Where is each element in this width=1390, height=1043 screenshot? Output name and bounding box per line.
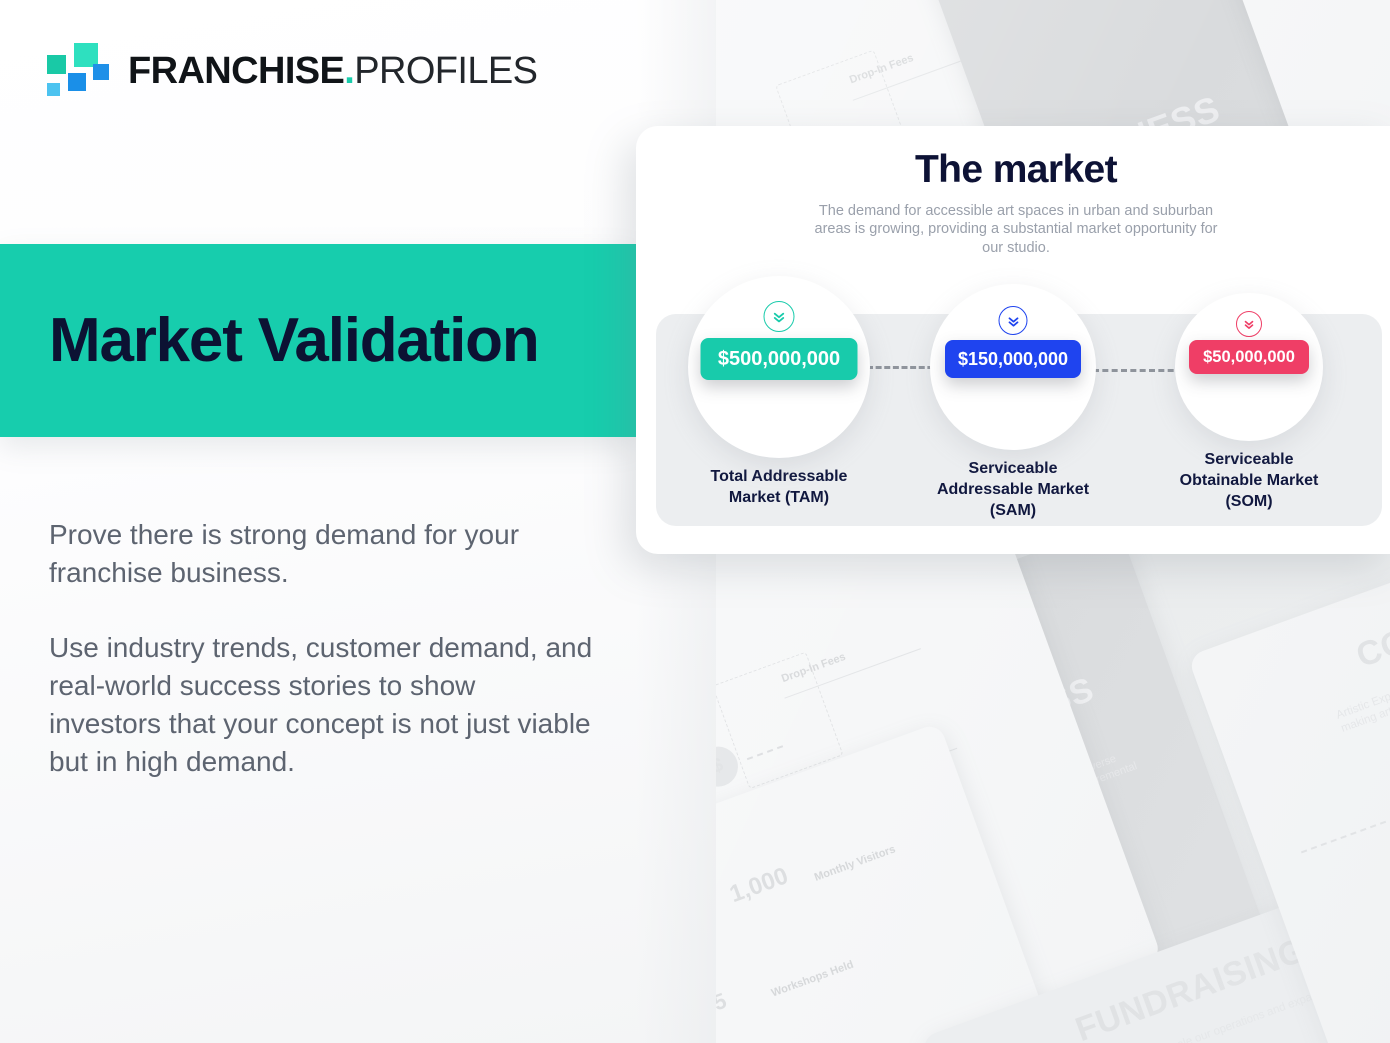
market-node-som[interactable]: $50,000,000 Serviceable Obtainable Marke… bbox=[1137, 293, 1361, 512]
slide-root: $ Drop-In Fees Session Workshops Commiss… bbox=[0, 0, 1390, 1043]
double-chevron-down-icon bbox=[1236, 311, 1262, 337]
sam-amount-badge: $150,000,000 bbox=[945, 340, 1081, 378]
som-label: Serviceable Obtainable Market (SOM) bbox=[1137, 450, 1361, 512]
brand-name-thin: PROFILES bbox=[354, 50, 537, 92]
brand-name-dot: . bbox=[344, 50, 354, 92]
market-card-subtitle: The demand for accessible art spaces in … bbox=[806, 202, 1226, 258]
market-node-sam[interactable]: $150,000,000 Serviceable Addressable Mar… bbox=[899, 284, 1127, 521]
logo-mark-icon bbox=[47, 43, 109, 99]
page-title: Market Validation bbox=[49, 310, 539, 372]
market-node-tam[interactable]: $500,000,000 Total Addressable Market (T… bbox=[669, 276, 889, 509]
body-copy: Prove there is strong demand for your fr… bbox=[49, 516, 594, 781]
sam-label: Serviceable Addressable Market (SAM) bbox=[899, 459, 1127, 521]
body-paragraph-2: Use industry trends, customer demand, an… bbox=[49, 629, 594, 781]
ghost-stat-value: 1,000 bbox=[726, 862, 792, 909]
ghost-stat-label: Workshops Held bbox=[770, 959, 855, 1000]
market-card-title: The market bbox=[636, 150, 1390, 191]
ghost-stat-value: 75 bbox=[715, 988, 730, 1021]
market-card-header: The market The demand for accessible art… bbox=[636, 126, 1390, 258]
body-paragraph-1: Prove there is strong demand for your fr… bbox=[49, 516, 594, 592]
som-amount-badge: $50,000,000 bbox=[1189, 340, 1309, 374]
som-circle: $50,000,000 bbox=[1175, 293, 1323, 441]
brand-name-bold: FRANCHISE bbox=[128, 50, 344, 92]
tam-amount-badge: $500,000,000 bbox=[701, 338, 858, 380]
brand-wordmark: FRANCHISE.PROFILES bbox=[128, 52, 537, 90]
sam-circle: $150,000,000 bbox=[930, 284, 1096, 450]
ghost-stat-label: Monthly Visitors bbox=[813, 843, 897, 883]
brand-logo[interactable]: FRANCHISE.PROFILES bbox=[47, 43, 537, 99]
double-chevron-down-icon bbox=[764, 301, 795, 332]
title-banner: Market Validation bbox=[0, 244, 636, 437]
tam-label: Total Addressable Market (TAM) bbox=[669, 467, 889, 509]
tam-circle: $500,000,000 bbox=[688, 276, 870, 458]
double-chevron-down-icon bbox=[999, 306, 1028, 335]
ghost-title: COMP bbox=[1352, 606, 1390, 674]
